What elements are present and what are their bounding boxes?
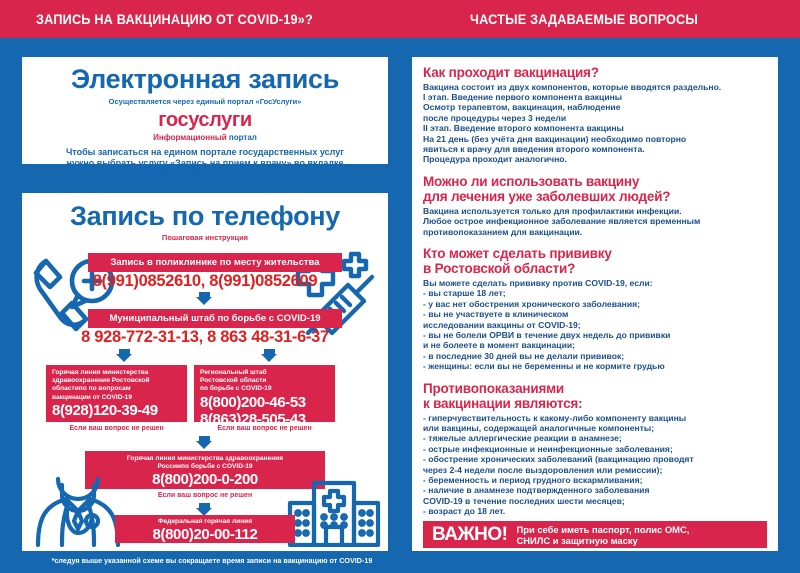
important-line-1: При себе иметь паспорт, полис ОМС, <box>517 524 690 535</box>
step1-red-bar: Запись в поликлинике по месту жительства <box>88 253 342 272</box>
faq-a3-line-8: - в последние 30 дней вы не делали приви… <box>423 351 767 361</box>
faq-q2-line-2: для лечения уже заболевших людей? <box>423 189 767 205</box>
faq-list: Как проходит вакцинация? Вакцина состоит… <box>412 57 778 517</box>
important-banner: ВАЖНО! При себе иметь паспорт, полис ОМС… <box>423 521 767 548</box>
faq-a3-line-4: - вы не участвуете в клиническом <box>423 309 767 319</box>
faq-a4-line-4: - острые инфекционные и неинфекционные з… <box>423 444 767 454</box>
faq-a4-line-3: - тяжелые аллергические реакции в анамне… <box>423 433 767 443</box>
doctor-icon <box>28 477 128 547</box>
faq-a4-line-5: - обострение хронических заболеваний (ва… <box>423 454 767 464</box>
faq-question-2: Можно ли использовать вакцину для лечени… <box>423 174 767 205</box>
faq-a3-line-5: исследовании вакцины от COVID-19; <box>423 320 767 330</box>
arrow-1-head <box>196 297 212 305</box>
poster-root: ЗАПИСЬ НА ВАКЦИНАЦИЮ ОТ COVID-19»? ЧАСТЫ… <box>0 0 800 573</box>
faq-a1-line-5: II этап. Введение второго компонента вак… <box>423 123 767 133</box>
regional-staff-number-1: 8(800)200-46-53 <box>200 395 329 411</box>
faq-a4-line-7: - беременность и период грудного вскармл… <box>423 475 767 485</box>
note-line-3: «Вакцинация от COVID-19» <box>36 169 374 180</box>
electronic-registration-subtitle: Осуществляется через единый портал «ГосУ… <box>22 97 388 106</box>
faq-item-1: Как проходит вакцинация? Вакцина состоит… <box>423 65 767 165</box>
hotline-russia-line-1: Горячая линия министерства здравоохранен… <box>91 455 319 463</box>
faq-q3-line-1: Кто может сделать прививку <box>423 246 767 262</box>
step2-red-bar: Муниципальный штаб по борьбе с COVID-19 <box>88 309 342 328</box>
note-line-2: нужно выбрать услугу «Запись на прием к … <box>36 158 374 169</box>
header-title-right: ЧАСТЫЕ ЗАДАВАЕМЫЕ ВОПРОСЫ <box>470 12 698 27</box>
faq-a2-line-1: Вакцина используется только для профилак… <box>423 206 767 216</box>
faq-question-1: Как проходит вакцинация? <box>423 65 767 81</box>
faq-answer-2: Вакцина используется только для профилак… <box>423 206 767 237</box>
left-footnote: *следуя выше указанной схеме вы сокращае… <box>22 556 402 565</box>
faq-a4-line-9: COVID-19 в течение последних шести месяц… <box>423 496 767 506</box>
faq-a4-line-2: или вакцины, содержащей аналогичные комп… <box>423 423 767 433</box>
faq-answer-4: - гиперчувствительность к какому-либо ко… <box>423 413 767 517</box>
faq-q4-line-1: Противопоказаниями <box>423 381 767 397</box>
gosuslugi-brand-subtitle: Информационный портал <box>22 133 388 142</box>
faq-item-2: Можно ли использовать вакцину для лечени… <box>423 174 767 237</box>
faq-a1-line-6: На 21 день (без учёта дня вакцинации) не… <box>423 134 767 144</box>
faq-a3-line-2: - вы старше 18 лет; <box>423 288 767 298</box>
regional-staff-box: Региональный штаб Ростовской области по … <box>194 365 335 422</box>
phone-registration-card: Запись по телефону Пошаговая инструкция <box>22 193 388 551</box>
arrow-3-head <box>196 441 212 449</box>
phone-registration-subtitle: Пошаговая инструкция <box>22 233 388 242</box>
federal-hotline-box: Федеральная горячая линия 8(800)20-00-11… <box>115 515 295 543</box>
faq-q2-line-1: Можно ли использовать вакцину <box>423 174 767 190</box>
important-word: ВАЖНО! <box>423 524 508 546</box>
faq-a3-line-1: Вы можете сделать прививку против COVID-… <box>423 278 767 288</box>
regional-staff-after-note: Если ваш вопрос не решен <box>194 425 335 432</box>
faq-question-3: Кто может сделать прививку в Ростовской … <box>423 246 767 277</box>
faq-a1-line-4: после процедуры через 3 недели <box>423 113 767 123</box>
hotline-ministry-line-4: вакцинации от COVID-19 <box>52 394 181 402</box>
faq-question-4: Противопоказаниями к вакцинации являются… <box>423 381 767 412</box>
faq-a3-line-6: - вы не болели ОРВИ в течение двух недел… <box>423 330 767 340</box>
hotline-russia-line-2: Россиипо борьбе с COVID-19 <box>91 463 319 471</box>
phone-registration-title: Запись по телефону <box>22 201 388 232</box>
important-line-2: СНИЛС и защитную маску <box>517 535 690 546</box>
hotline-ministry-rostov-box: Горячая линия министерства здравоохранен… <box>46 365 187 422</box>
electronic-registration-title: Электронная запись <box>22 64 388 95</box>
header-title-left: ЗАПИСЬ НА ВАКЦИНАЦИЮ ОТ COVID-19»? <box>36 12 313 27</box>
arrow-2a-head <box>116 354 132 362</box>
arrow-2b-head <box>261 354 277 362</box>
faq-a4-line-1: - гиперчувствительность к какому-либо ко… <box>423 413 767 423</box>
faq-q3-line-2: в Ростовской области? <box>423 261 767 277</box>
faq-item-4: Противопоказаниями к вакцинации являются… <box>423 381 767 517</box>
faq-a1-line-3: Осмотр терапевтом, вакцинация, наблюдени… <box>423 102 767 112</box>
note-line-1: Чтобы записаться на едином портале госуд… <box>36 147 374 158</box>
faq-a1-line-2: I этап. Введение первого компонента вакц… <box>423 92 767 102</box>
faq-card: Как проходит вакцинация? Вакцина состоит… <box>412 57 778 551</box>
hotline-ministry-line-1: Горячая линия министерства <box>52 369 181 377</box>
faq-item-3: Кто может сделать прививку в Ростовской … <box>423 246 767 372</box>
electronic-registration-card: Электронная запись Осуществляется через … <box>22 57 388 164</box>
faq-a3-line-9: - женщины: если вы не беременны и не кор… <box>423 361 767 371</box>
faq-a4-line-8: - наличие в анамнезе подтвержденного заб… <box>423 485 767 495</box>
regional-staff-line-3: по борьбе с COVID-19 <box>200 385 329 393</box>
gosuslugi-sub-part2: портал <box>229 133 257 142</box>
federal-hotline-number: 8(800)20-00-112 <box>121 527 289 543</box>
gosuslugi-brand: госуслуги <box>22 109 388 132</box>
step2-phone-numbers: 8 928-772-31-13, 8 863 48-31-6-37 <box>22 328 388 347</box>
hotline-ministry-after-note: Если ваш вопрос не решен <box>46 425 187 432</box>
faq-a3-line-7: и не болеете в момент вакцинации; <box>423 340 767 350</box>
federal-hotline-label: Федеральная горячая линия <box>121 518 289 526</box>
step1-phone-numbers: 8(991)0852610, 8(991)0852609 <box>22 272 388 291</box>
hotline-ministry-number: 8(928)120-39-49 <box>52 403 181 419</box>
important-text: При себе иметь паспорт, полис ОМС, СНИЛС… <box>508 524 690 546</box>
faq-answer-1: Вакцина состоит из двух компонентов, кот… <box>423 82 767 165</box>
faq-a1-line-1: Вакцина состоит из двух компонентов, кот… <box>423 82 767 92</box>
faq-a3-line-3: - у вас нет обострения хронического забо… <box>423 299 767 309</box>
regional-staff-line-1: Региональный штаб <box>200 369 329 377</box>
gosuslugi-sub-part1: Информационный <box>153 133 229 142</box>
faq-q1-line-1: Как проходит вакцинация? <box>423 65 767 81</box>
faq-q4-line-2: к вакцинации являются: <box>423 396 767 412</box>
electronic-registration-note: Чтобы записаться на едином портале госуд… <box>22 147 388 180</box>
faq-a4-line-10: - возраст до 18 лет. <box>423 506 767 516</box>
faq-a2-line-3: противопоказанием для вакцинации. <box>423 227 767 237</box>
faq-a1-line-7: явиться к врачу для введения второго ком… <box>423 144 767 154</box>
hospital-icon <box>284 479 384 547</box>
faq-answer-3: Вы можете сделать прививку против COVID-… <box>423 278 767 372</box>
faq-a2-line-2: Любое острое инфекционное заболевание яв… <box>423 216 767 226</box>
faq-a4-line-6: через 2-4 недели после выздоровления или… <box>423 465 767 475</box>
hotline-ministry-line-3: областипо по вопросам <box>52 385 181 393</box>
faq-a1-line-8: Процедура проходит аналогично. <box>423 154 767 164</box>
